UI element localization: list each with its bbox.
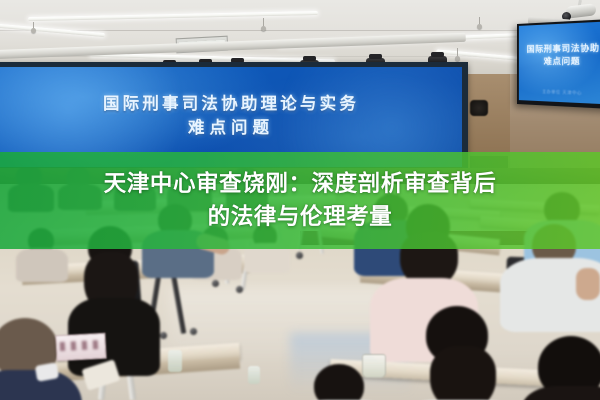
side-tv-surface: 国际刑事司法协助 难点问题 主办单位 天津中心: [519, 21, 600, 104]
water-cup: [362, 354, 386, 378]
side-tv-line2: 难点问题: [519, 55, 600, 68]
banner-title-line2: 的法律与伦理考量: [208, 203, 393, 231]
side-tv: 国际刑事司法协助 难点问题 主办单位 天津中心: [517, 19, 600, 109]
side-tv-text: 国际刑事司法协助 难点问题: [519, 42, 600, 69]
projector-text-line2: 难点问题: [0, 117, 462, 141]
banner-title: 天津中心审查饶刚：深度剖析审查背后 的法律与伦理考量: [0, 152, 600, 249]
desk-placard: [55, 333, 106, 362]
screenshot-root: 国际刑事司法协助理论与实务 难点问题 国际刑事司法协助 难点问题 主办单位 天津…: [0, 0, 600, 400]
water-bottle: [168, 350, 182, 372]
projector-screen-text: 国际刑事司法协助理论与实务 难点问题: [0, 93, 462, 141]
water-bottle: [248, 366, 260, 384]
ceiling-light-strip: [28, 11, 318, 21]
side-tv-line1: 国际刑事司法协助: [519, 42, 600, 56]
projector-text-line1: 国际刑事司法协助理论与实务: [0, 93, 462, 117]
banner-title-line1: 天津中心审查饶刚：深度剖析审查背后: [104, 170, 497, 198]
wall-speaker: [470, 100, 488, 116]
side-tv-footer: 主办单位 天津中心: [519, 88, 600, 98]
